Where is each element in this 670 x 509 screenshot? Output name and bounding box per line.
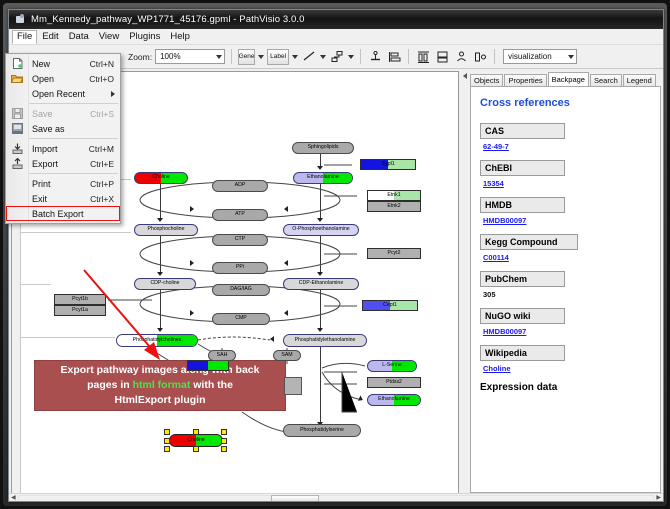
annotation-callout: Export pathway images along with back pa… [34, 360, 286, 411]
scrollbar-track[interactable] [18, 495, 654, 502]
expression-data-heading: Expression data [480, 382, 651, 393]
file-menu-item-save: Save Ctrl+S [6, 106, 120, 121]
metabolite-sam[interactable]: SAM [273, 350, 301, 361]
xref-value-kegg-compound[interactable]: C00114 [483, 253, 651, 262]
xref-header-chebi: ChEBI [480, 160, 565, 176]
side-panel-tabs: Objects Properties Backpage Search Legen… [462, 71, 661, 86]
file-menu-item-import[interactable]: Import Ctrl+M [6, 141, 120, 156]
selection-handle-e[interactable] [221, 438, 227, 444]
tab-scroll-left-icon[interactable] [463, 73, 467, 79]
stack-icon[interactable] [434, 49, 450, 64]
metabolite-sphingolipids[interactable]: Sphingolipids [292, 142, 354, 154]
metabolite-dag-iag[interactable]: DAG/IAG [212, 284, 270, 296]
metabolite-adp[interactable]: ADP [212, 180, 268, 192]
menu-data[interactable]: Data [64, 30, 94, 44]
file-menu-item-exit[interactable]: Exit Ctrl+X [6, 191, 120, 206]
label-button[interactable]: Label [267, 49, 289, 65]
selection-handle-se[interactable] [221, 446, 227, 452]
metabolite-o-phosphoethanolamine[interactable]: O-Phosphoethanolamine [283, 224, 359, 236]
align-middle-icon[interactable] [386, 49, 402, 64]
selection-handle-nw[interactable] [164, 429, 170, 435]
tab-search[interactable]: Search [590, 74, 622, 87]
xref-header-hmdb: HMDB [480, 197, 565, 213]
line-dropdown-icon[interactable] [320, 55, 326, 59]
metabolite-phosphatidylserine[interactable]: Phosphatidylserine [283, 424, 361, 437]
callout-line2-highlight: html format [133, 379, 191, 391]
small-gene-box[interactable] [187, 360, 229, 371]
cross-references-heading: Cross references [480, 97, 651, 109]
zoom-label: Zoom: [128, 52, 152, 62]
xref-value-nugo-wiki[interactable]: HMDB00097 [483, 327, 651, 336]
xref-header-pubchem: PubChem [480, 271, 565, 287]
toolbar-divider-4 [494, 49, 495, 64]
selection-handle-w[interactable] [164, 438, 170, 444]
open-folder-icon [6, 74, 28, 84]
gene-etnk2[interactable]: Etnk2 [367, 201, 421, 212]
menu-plugins[interactable]: Plugins [124, 30, 165, 44]
menu-bar: File Edit Data View Plugins Help [9, 29, 663, 45]
metabolite-phosphocholine[interactable]: Phosphocholine [134, 224, 198, 236]
visualization-combo[interactable]: visualization [503, 49, 577, 64]
menu-help[interactable]: Help [165, 30, 195, 44]
interaction-dropdown-icon[interactable] [348, 55, 354, 59]
line-tool-icon[interactable] [301, 49, 317, 64]
interaction-tool-icon[interactable] [329, 49, 345, 64]
file-menu-item-open-recent[interactable]: Open Recent [6, 86, 120, 101]
title-bar: Mm_Kennedy_pathway_WP1771_45176.gpml - P… [9, 10, 663, 29]
file-menu-item-new[interactable]: New Ctrl+N [6, 56, 120, 71]
file-menu-item-save-as[interactable]: Save as [6, 121, 120, 136]
chevron-down-icon [216, 55, 222, 59]
toolbar-divider-2 [360, 49, 361, 64]
file-menu-item-open[interactable]: Open Ctrl+O [6, 71, 120, 86]
pathvisio-icon [15, 14, 26, 25]
callout-line2-b: with the [190, 379, 233, 391]
window-title: Mm_Kennedy_pathway_WP1771_45176.gpml - P… [31, 14, 305, 25]
toolbar-divider [231, 49, 232, 64]
selection-handle-sw[interactable] [164, 446, 170, 452]
distribute-icon[interactable] [415, 49, 431, 64]
scroll-right-icon[interactable]: ▶ [656, 494, 661, 502]
tab-backpage[interactable]: Backpage [548, 72, 589, 87]
horizontal-scrollbar[interactable]: ◀ ▶ [9, 493, 663, 502]
new-file-icon [6, 58, 28, 69]
metabolite-ethanolamine-bottom[interactable]: Ethanolamine [367, 394, 421, 406]
metabolite-cdp-ethanolamine[interactable]: CDP-Ethanolamine [283, 278, 359, 290]
file-menu-dropdown[interactable]: New Ctrl+N Open Ctrl+O Open Recent Save … [5, 53, 121, 224]
file-menu-divider-2 [29, 138, 118, 139]
annotation-arrow [82, 268, 170, 364]
datanode-button[interactable]: Gene [238, 49, 255, 65]
xref-value-wikipedia[interactable]: Choline [483, 364, 651, 373]
menu-edit[interactable]: Edit [37, 30, 63, 44]
gene-etnk1[interactable]: Etnk1 [367, 190, 421, 201]
selection-handle-ne[interactable] [221, 429, 227, 435]
tab-properties[interactable]: Properties [504, 74, 546, 87]
xref-value-hmdb[interactable]: HMDB00097 [483, 216, 651, 225]
menu-view[interactable]: View [94, 30, 124, 44]
metabolite-ethanolamine-top[interactable]: Ethanolamine [293, 172, 353, 184]
file-menu-item-batch-export[interactable]: Batch Export [6, 206, 120, 221]
metabolite-l-serine[interactable]: L-Serine [367, 360, 417, 372]
gene-sgpl1[interactable]: Sgpl1 [360, 159, 416, 170]
save-as-icon [6, 123, 28, 134]
xref-header-nugo-wiki: NuGO wiki [480, 308, 565, 324]
scrollbar-thumb[interactable] [271, 495, 319, 502]
xref-value-pubchem: 305 [483, 290, 651, 299]
save-icon [6, 108, 28, 119]
gene-ptdss2[interactable]: Ptdss2 [367, 377, 421, 388]
order-icon[interactable] [472, 49, 488, 64]
datanode-dropdown-icon[interactable] [258, 55, 264, 59]
xref-header-cas: CAS [480, 123, 565, 139]
import-icon [6, 143, 28, 154]
chevron-down-icon-2 [568, 55, 574, 59]
file-menu-divider-1 [29, 103, 118, 104]
callout-line1: Export pathway images along with back [61, 364, 260, 376]
callout-line2-a: pages in [87, 379, 133, 391]
gene-cept1[interactable]: Cept1 [362, 300, 418, 311]
scroll-left-icon[interactable]: ◀ [11, 494, 16, 502]
tab-legend[interactable]: Legend [623, 74, 656, 87]
group-icon[interactable] [453, 49, 469, 64]
metabolite-ctp[interactable]: CTP [212, 234, 268, 246]
metabolite-ppi[interactable]: PPi [212, 262, 268, 274]
side-panel: Objects Properties Backpage Search Legen… [459, 69, 663, 493]
xref-header-wikipedia: Wikipedia [480, 345, 565, 361]
metabolite-phosphatidylethanolamine[interactable]: Phosphatidylethanolamine [283, 334, 367, 347]
callout-line3: HtmlExport plugin [115, 394, 206, 406]
metabolite-choline-top[interactable]: Choline [134, 172, 188, 184]
label-dropdown-icon[interactable] [292, 55, 298, 59]
metabolite-sah[interactable]: SAH [208, 350, 236, 361]
file-menu-divider-3 [29, 173, 118, 174]
menu-file[interactable]: File [12, 30, 37, 44]
gene-pcyt2[interactable]: Pcyt2 [367, 248, 421, 259]
align-top-icon[interactable] [367, 49, 383, 64]
export-icon [6, 158, 28, 169]
selection-handle-s[interactable] [193, 446, 199, 452]
selection-handle-n[interactable] [193, 429, 199, 435]
backpage-content: Cross references CAS 62-49-7 ChEBI 15354… [470, 86, 661, 493]
metabolite-cmp[interactable]: CMP [212, 313, 270, 325]
visualization-value: visualization [508, 52, 552, 61]
screenshot-root: Mm_Kennedy_pathway_WP1771_45176.gpml - P… [0, 0, 670, 509]
toolbar-divider-3 [408, 49, 409, 64]
xref-value-chebi[interactable]: 15354 [483, 179, 651, 188]
xref-header-kegg-compound: Kegg Compound [480, 234, 578, 250]
file-menu-item-export[interactable]: Export Ctrl+E [6, 156, 120, 171]
metabolite-atp[interactable]: ATP [212, 209, 268, 221]
file-menu-item-print[interactable]: Print Ctrl+P [6, 176, 120, 191]
tab-objects[interactable]: Objects [470, 74, 503, 87]
reaction-box[interactable] [284, 377, 302, 395]
xref-value-cas[interactable]: 62-49-7 [483, 142, 651, 151]
submenu-arrow-icon [111, 91, 115, 97]
zoom-combo[interactable]: 100% [155, 49, 225, 64]
zoom-value: 100% [160, 52, 180, 61]
